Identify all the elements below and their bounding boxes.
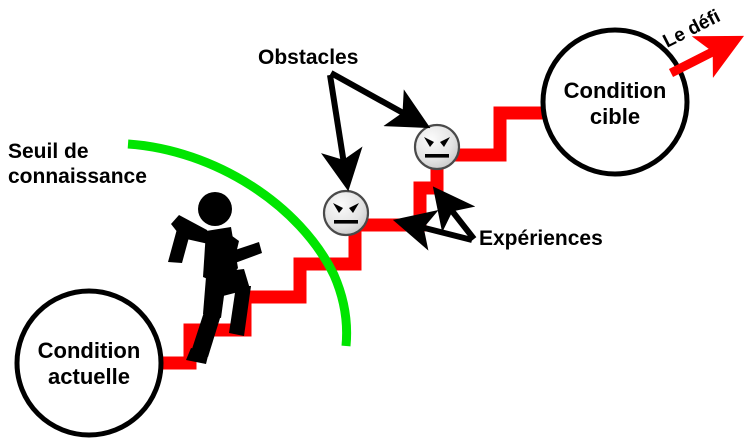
start-circle-label-line2: actuelle (48, 364, 130, 389)
face-upper-circle (415, 125, 459, 169)
obstacle-face-lower[interactable] (324, 191, 368, 235)
staircase-challenge-diagram: Condition actuelle Condition cible (0, 0, 749, 439)
start-circle-label-line1: Condition (38, 338, 141, 363)
target-circle-label-line2: cible (590, 104, 640, 129)
experiences-label: Expériences (479, 227, 603, 250)
node-condition-actuelle[interactable]: Condition actuelle (17, 291, 161, 435)
experiences-arrows (401, 193, 474, 240)
face-lower-circle (324, 191, 368, 235)
start-circle-outline (17, 291, 161, 435)
obstacles-arrow-to-upper-face (331, 73, 423, 124)
obstacle-face-upper[interactable] (415, 125, 459, 169)
node-condition-cible[interactable]: Condition cible (543, 30, 687, 174)
running-person-icon (168, 192, 262, 364)
diagram-canvas: Condition actuelle Condition cible (0, 0, 749, 439)
obstacles-label: Obstacles (258, 46, 358, 69)
challenge-label: Le défi (660, 6, 724, 53)
face-lower-mouth-icon (334, 220, 358, 224)
target-circle-label-line1: Condition (564, 78, 667, 103)
obstacles-arrows (330, 73, 423, 183)
face-upper-mouth-icon (425, 154, 449, 158)
threshold-label-line2: connaissance (8, 165, 147, 188)
threshold-label-line1: Seuil de (8, 140, 89, 163)
obstacles-arrow-to-lower-face (330, 75, 347, 183)
